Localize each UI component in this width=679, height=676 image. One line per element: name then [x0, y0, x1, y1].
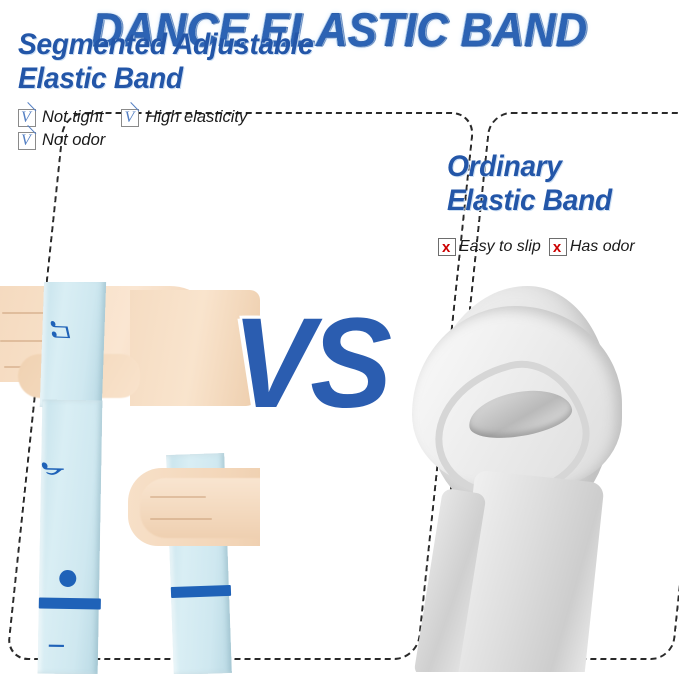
checkbox-crossed-icon: x [549, 238, 567, 256]
product-comparison-infographic: DANCE ELASTIC BAND ♫ ♪ | 8 [0, 0, 679, 676]
checkbox-crossed-icon: x [438, 238, 456, 256]
finger-crease [150, 518, 212, 520]
drawback-label: Has odor [570, 238, 635, 256]
band-print-glyph: ♪ [34, 458, 74, 477]
band-print-mark: | [48, 643, 64, 648]
elastic-band-middle-segment: ♪ | [38, 399, 103, 674]
drawback-item: x Easy to slip [438, 238, 541, 256]
drawback-label: Easy to slip [459, 238, 541, 256]
feature-item: V Not odor [18, 131, 348, 150]
feature-item: V Not tight [18, 108, 103, 127]
feature-list-ordinary: x Easy to slip x Has odor [438, 238, 674, 256]
finger-crease [150, 496, 206, 498]
product-photo-segmented-band: ♫ ♪ | 8 [0, 282, 260, 674]
checkbox-checked-icon: V [18, 132, 36, 150]
fingers-lower [140, 478, 260, 538]
feature-list-segmented: V Not tight V High elasticity V Not odor [18, 108, 348, 150]
band-segment-stripe [171, 585, 231, 598]
feature-label: High elasticity [145, 108, 247, 127]
band-print-dot [59, 570, 76, 587]
feature-label: Not tight [42, 108, 103, 127]
band-print-glyph: ♫ [45, 316, 80, 341]
band-segment-stripe [39, 597, 101, 609]
checkbox-checked-icon: V [18, 109, 36, 127]
product-photo-ordinary-band [372, 268, 679, 672]
feature-item: V High elasticity [121, 108, 247, 127]
drawback-item: x Has odor [549, 238, 635, 256]
checkbox-checked-icon: V [121, 109, 139, 127]
heading-segmented-band: Segmented Adjustable Elastic Band [18, 28, 313, 96]
vs-badge: VS [232, 300, 388, 428]
elastic-band-top-segment: ♫ [40, 282, 106, 409]
heading-ordinary-band: Ordinary Elastic Band [447, 150, 612, 218]
feature-label: Not odor [42, 131, 105, 150]
